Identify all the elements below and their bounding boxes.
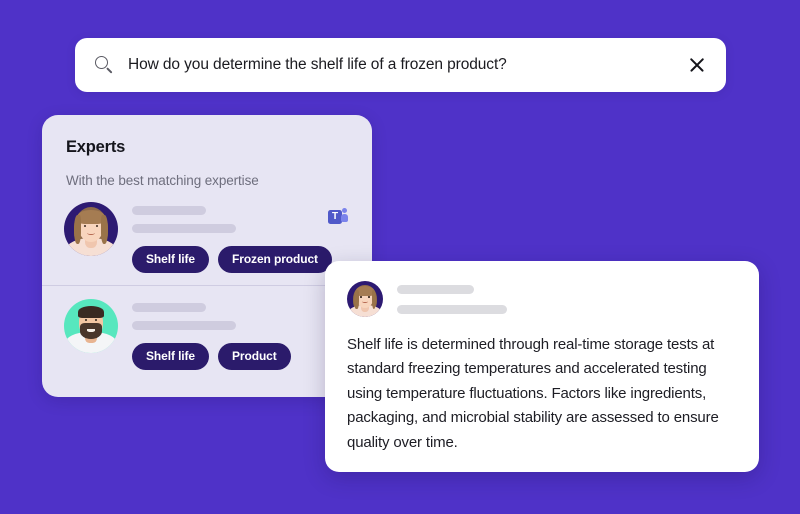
app-canvas: Experts With the best matching expertise [0, 0, 800, 514]
experts-panel: Experts With the best matching expertise [42, 115, 372, 397]
teams-letter: T [328, 210, 342, 224]
expert-details: Shelf life Product [132, 299, 328, 370]
status-badge[interactable]: Product [218, 343, 291, 370]
expert-role-placeholder [132, 224, 236, 233]
search-input[interactable] [128, 56, 676, 74]
author-name-placeholder [397, 285, 474, 294]
search-icon [95, 56, 114, 75]
search-bar[interactable] [75, 38, 726, 92]
expert-tags: Shelf life Product [132, 343, 328, 370]
expert-role-placeholder [132, 321, 236, 330]
author-meta-placeholder [397, 305, 507, 314]
expert-name-placeholder [132, 303, 206, 312]
close-icon[interactable] [686, 54, 708, 76]
list-item[interactable]: Shelf life Product T [42, 285, 372, 382]
expert-name-placeholder [132, 206, 206, 215]
expert-tags: Shelf life Frozen product [132, 246, 328, 273]
answer-card: Shelf life is determined through real-ti… [325, 261, 759, 472]
avatar [347, 281, 383, 317]
avatar [64, 299, 118, 353]
answer-author [347, 281, 735, 317]
experts-header: Experts With the best matching expertise [42, 115, 372, 188]
list-item[interactable]: Shelf life Frozen product T [42, 188, 372, 285]
status-badge[interactable]: Shelf life [132, 343, 209, 370]
microsoft-teams-icon[interactable]: T [328, 208, 348, 228]
status-badge[interactable]: Frozen product [218, 246, 332, 273]
answer-author-placeholders [397, 285, 735, 314]
expert-details: Shelf life Frozen product [132, 202, 328, 273]
status-badge[interactable]: Shelf life [132, 246, 209, 273]
avatar [64, 202, 118, 256]
experts-subtitle: With the best matching expertise [66, 173, 348, 188]
page-title: Experts [66, 138, 348, 157]
answer-text: Shelf life is determined through real-ti… [347, 333, 735, 455]
